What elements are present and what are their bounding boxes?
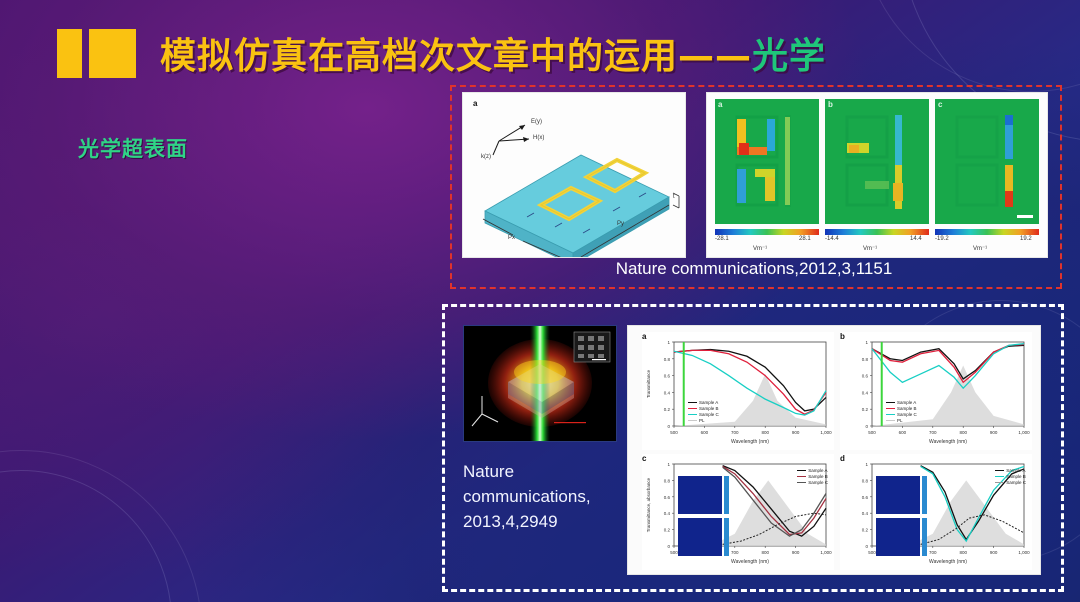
field-inset [876,518,920,556]
figure-bottom-caption-line-2: communications, [463,484,613,509]
svg-text:900: 900 [792,550,800,555]
legend-swatch [886,414,895,416]
field-inset [678,476,722,514]
fieldmap-a-min: -28.1 [715,236,729,242]
spectra-svg-a: 00.20.40.60.815006007008009001,000Wavele… [642,332,834,450]
schematic-label-Px: Px [508,235,515,241]
fieldmap-b-letter: b [828,100,833,109]
legend-label: Sample B [897,406,917,411]
svg-text:500: 500 [868,430,876,435]
field-inset-colorbar [922,518,927,556]
svg-text:800: 800 [959,430,967,435]
svg-text:700: 700 [731,430,739,435]
spectra-plot-host: a00.20.40.60.815006007008009001,000Wavel… [628,326,1040,574]
svg-text:0.4: 0.4 [664,390,671,395]
fieldmap-figure: a -28.1 28.1 Vm⁻¹ [706,92,1048,258]
fieldmap-c-svg [935,99,1039,224]
svg-text:0.8: 0.8 [862,357,869,362]
decorative-arc-bottom-left-2 [0,450,202,602]
schematic-label-Py: Py [617,221,624,227]
fieldmap-c-scalebar [1017,215,1033,218]
svg-text:0.2: 0.2 [664,407,671,412]
decorative-arc-bottom-left [0,470,172,602]
legend-label: Sample A [1006,468,1025,473]
x-axis-label: Wavelength (nm) [929,559,967,565]
svg-text:0: 0 [667,544,670,549]
svg-text:1,000: 1,000 [1018,430,1030,435]
metasurface-schematic-svg [463,93,685,257]
svg-text:900: 900 [990,550,998,555]
figure-bottom-caption-line-3: 2013,4,2949 [463,509,613,534]
legend-label: Sample C [699,412,719,417]
svg-text:0.2: 0.2 [664,528,671,533]
svg-text:1,000: 1,000 [820,430,832,435]
svg-text:0.2: 0.2 [862,407,869,412]
schematic-label-t: t [673,194,675,200]
fieldmap-b-svg [825,99,929,224]
fieldmap-c-min: -19.2 [935,236,949,242]
svg-text:0: 0 [865,424,868,429]
spectra-svg-b: 00.20.40.60.815006007008009001,000Wavele… [840,332,1032,450]
legend-swatch [995,482,1004,484]
schematic-label-Ey: E(y) [531,119,542,125]
spectra-legend-a: Sample ASample BSample CPL [688,400,719,424]
x-axis-label: Wavelength (nm) [731,559,769,565]
legend-row: PL [688,418,719,423]
legend-row: Sample B [886,406,917,411]
fieldmap-a-max: 28.1 [799,236,811,242]
svg-text:600: 600 [701,430,709,435]
figure-group-top: a [450,85,1062,289]
y-axis-label: Transmittance [646,369,651,398]
metasurface-render-figure [463,325,617,442]
fieldmap-a-svg [715,99,819,224]
title-marker-square-left [57,29,82,78]
svg-text:800: 800 [761,550,769,555]
page-title-main: 模拟仿真在高档次文章中的运用—— [160,36,752,77]
fieldmap-c-unit: Vm⁻¹ [973,245,987,252]
svg-text:1,000: 1,000 [1018,550,1030,555]
legend-label: Sample B [1006,474,1026,479]
spectra-panel-letter-c: c [642,454,646,463]
spectra-panel-c: c00.20.40.60.815006007008009001,000Wavel… [642,454,834,570]
svg-text:1,000: 1,000 [820,550,832,555]
y-axis-label: Transmittance, absorbance [646,477,651,532]
slide-canvas: 模拟仿真在高档次文章中的运用——光学 光学超表面 a [0,0,1080,602]
legend-swatch [995,470,1004,472]
decorative-arc-top-right [860,0,1080,92]
svg-text:500: 500 [868,550,876,555]
svg-text:0.6: 0.6 [862,374,869,379]
legend-label: Sample C [808,480,828,485]
svg-text:0.6: 0.6 [664,374,671,379]
spectra-panel-letter-a: a [642,332,646,341]
legend-swatch [688,408,697,410]
fieldmap-b-min: -14.4 [825,236,839,242]
schematic-label-Hx: H(x) [533,135,544,141]
legend-swatch [797,476,806,478]
schematic-label-kz: k(z) [481,154,491,160]
svg-text:0.6: 0.6 [862,495,869,500]
field-inset [678,518,722,556]
spectra-figure: a00.20.40.60.815006007008009001,000Wavel… [627,325,1041,575]
legend-row: Sample A [688,400,719,405]
svg-text:1: 1 [865,340,868,345]
fieldmap-panel-a: a [715,99,819,224]
svg-text:0.4: 0.4 [862,511,869,516]
x-axis-label: Wavelength (nm) [929,439,967,445]
legend-row: Sample A [886,400,917,405]
svg-text:700: 700 [929,430,937,435]
svg-text:0.4: 0.4 [664,511,671,516]
section-subtitle: 光学超表面 [78,133,188,163]
legend-row: Sample A [995,468,1026,473]
figure-bottom-caption: Nature communications, 2013,4,2949 [463,459,613,534]
legend-swatch [688,402,697,404]
legend-label: PL [897,418,903,423]
legend-row: Sample A [797,468,828,473]
svg-text:600: 600 [899,430,907,435]
legend-row: Sample C [688,412,719,417]
field-inset [876,476,920,514]
x-axis-label: Wavelength (nm) [731,439,769,445]
fieldmap-b-max: 14.4 [910,236,922,242]
spectra-legend-c: Sample ASample BSample C [797,468,828,486]
spectra-panel-a: a00.20.40.60.815006007008009001,000Wavel… [642,332,834,450]
legend-row: Sample C [995,480,1026,485]
svg-text:0: 0 [667,424,670,429]
svg-text:500: 500 [670,550,678,555]
schematic-figure: a [462,92,686,258]
field-inset-colorbar [922,476,927,514]
svg-text:0.2: 0.2 [862,528,869,533]
legend-row: Sample C [797,480,828,485]
svg-text:900: 900 [990,430,998,435]
fieldmap-c-colorbar [935,229,1039,235]
svg-text:0.8: 0.8 [664,478,671,483]
svg-text:900: 900 [792,430,800,435]
legend-swatch [886,420,895,422]
legend-label: PL [699,418,705,423]
svg-text:0.4: 0.4 [862,390,869,395]
title-marker-square-right [89,29,136,78]
legend-swatch [886,402,895,404]
fieldmap-a-colorbar [715,229,819,235]
spectra-panel-letter-d: d [840,454,845,463]
legend-row: Sample B [688,406,719,411]
legend-row: Sample C [886,412,917,417]
fieldmap-a-unit: Vm⁻¹ [753,245,767,252]
legend-label: Sample C [897,412,917,417]
spectra-panel-letter-b: b [840,332,845,341]
legend-swatch [886,408,895,410]
page-title: 模拟仿真在高档次文章中的运用——光学 [160,27,826,79]
svg-text:500: 500 [670,430,678,435]
svg-text:0.8: 0.8 [664,357,671,362]
field-inset-colorbar [724,518,729,556]
svg-text:700: 700 [929,550,937,555]
svg-text:800: 800 [761,430,769,435]
fieldmap-b-colorbar [825,229,929,235]
svg-text:0.6: 0.6 [664,495,671,500]
svg-text:0.8: 0.8 [862,478,869,483]
figure-bottom-caption-line-1: Nature [463,459,613,484]
svg-text:1: 1 [865,462,868,467]
spectra-legend-b: Sample ASample BSample CPL [886,400,917,424]
legend-swatch [688,414,697,416]
metasurface-render-svg [464,326,616,441]
page-title-accent: 光学 [752,36,826,77]
fieldmap-b-unit: Vm⁻¹ [863,245,877,252]
legend-label: Sample A [808,468,827,473]
legend-swatch [995,476,1004,478]
spectra-legend-d: Sample ASample BSample C [995,468,1026,486]
fieldmap-c-max: 19.2 [1020,236,1032,242]
spectra-panel-d: d00.20.40.60.815006007008009001,000Wavel… [840,454,1032,570]
svg-text:700: 700 [731,550,739,555]
svg-text:1: 1 [667,340,670,345]
field-inset-colorbar [724,476,729,514]
schematic-panel-letter: a [473,99,477,108]
svg-text:800: 800 [959,550,967,555]
fieldmap-c-letter: c [938,100,942,109]
legend-label: Sample B [699,406,719,411]
legend-swatch [797,470,806,472]
fieldmap-panel-c: c [935,99,1039,224]
legend-row: Sample B [797,474,828,479]
legend-label: Sample B [808,474,828,479]
legend-row: PL [886,418,917,423]
legend-label: Sample A [699,400,718,405]
legend-swatch [797,482,806,484]
legend-label: Sample A [897,400,916,405]
figure-top-caption: Nature communications,2012,3,1151 [452,259,1056,279]
legend-label: Sample C [1006,480,1026,485]
legend-row: Sample B [995,474,1026,479]
fieldmap-a-letter: a [718,100,722,109]
svg-text:0: 0 [865,544,868,549]
spectra-panel-b: b00.20.40.60.815006007008009001,000Wavel… [840,332,1032,450]
fieldmap-panel-b: b [825,99,929,224]
svg-text:1: 1 [667,462,670,467]
legend-swatch [688,420,697,422]
figure-group-bottom: Nature communications, 2013,4,2949 a00.2… [442,304,1064,592]
